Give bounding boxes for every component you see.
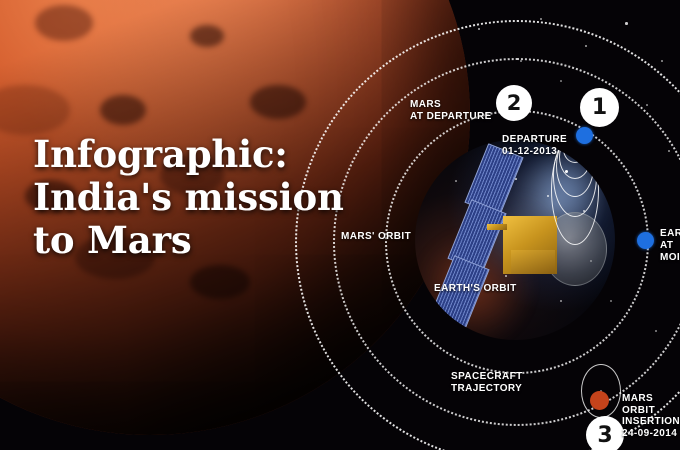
page-title: Infographic: India's mission to Mars [33, 133, 344, 262]
spacecraft-body-lower [511, 250, 555, 274]
label-departure: DEPARTURE 01-12-2013 [502, 134, 567, 157]
badge-1-number: 1 [592, 95, 607, 120]
label-earth-at-moi: EARTH AT MOI [660, 228, 680, 264]
spacecraft-boom [487, 224, 507, 230]
badge-3[interactable]: 3 [586, 416, 624, 450]
spacecraft-inset-photo [415, 140, 615, 340]
label-mars-orbit: MARS' ORBIT [341, 231, 411, 243]
badge-2-number: 2 [507, 91, 522, 115]
label-earths-orbit: EARTH'S ORBIT [434, 283, 517, 295]
badge-2[interactable]: 2 [496, 85, 532, 121]
earth-at-moi-dot [637, 232, 654, 249]
infographic-canvas: 2 1 3 MARS AT DEPARTURE DEPARTURE 01-12-… [0, 0, 680, 450]
badge-3-number: 3 [597, 423, 612, 448]
mars-at-insertion-dot [590, 391, 609, 410]
label-mars-orbit-insertion: MARS ORBIT INSERTION 24-09-2014 [622, 393, 680, 439]
badge-1[interactable]: 1 [580, 88, 619, 127]
label-mars-at-departure: MARS AT DEPARTURE [410, 99, 492, 122]
label-spacecraft-trajectory: SPACECRAFT TRAJECTORY [451, 371, 523, 394]
earth-at-departure-dot [576, 127, 593, 144]
